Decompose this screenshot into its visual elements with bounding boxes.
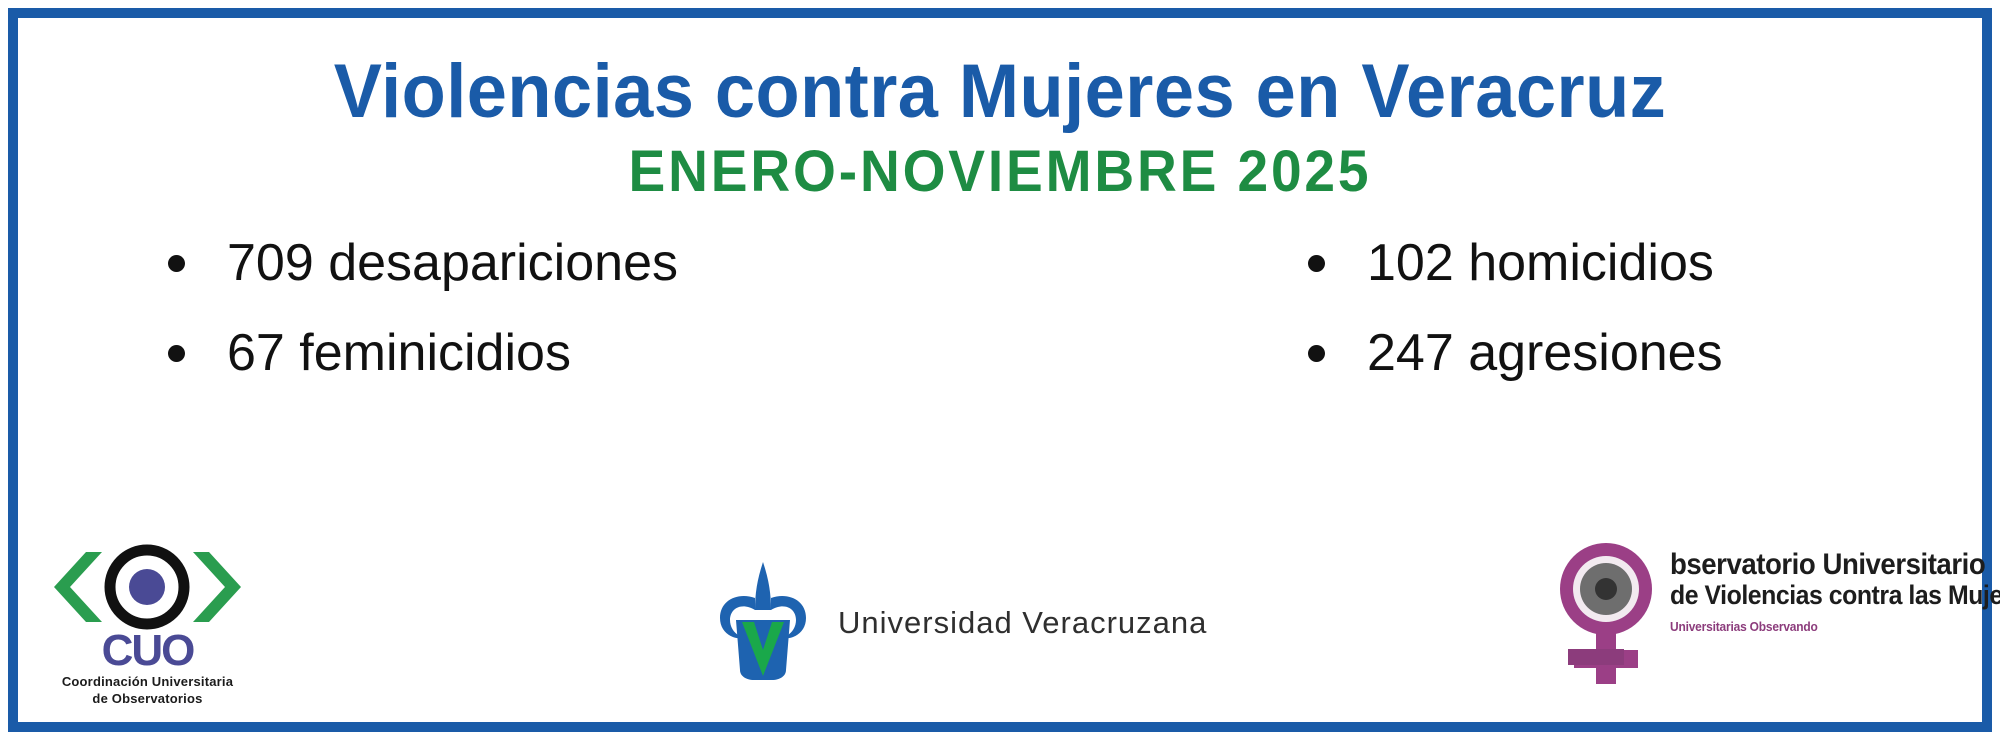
infographic-poster: Violencias contra Mujeres en Veracruz EN… (0, 0, 2000, 740)
title-block: Violencias contra Mujeres en Veracruz EN… (18, 52, 1982, 204)
bullet-point-icon (168, 255, 185, 272)
bullet-point-icon (168, 345, 185, 362)
poster-border-frame: Violencias contra Mujeres en Veracruz EN… (8, 8, 1992, 732)
list-item: 102 homicidios (1308, 218, 2000, 308)
logo-observatorio-universitario: bservatorio Universitario de Violencias … (1546, 537, 2000, 692)
stat-desapariciones: 709 desapariciones (227, 233, 678, 293)
bullet-point-icon (1308, 345, 1325, 362)
stat-feminicidios: 67 feminicidios (227, 323, 571, 383)
logo-universidad-veracruzana: Universidad Veracruzana (708, 558, 1207, 688)
cuo-caption-line-1: Coordinación Universitaria (40, 673, 255, 691)
list-item: 67 feminicidios (168, 308, 1052, 398)
uv-fleur-de-lis-icon (708, 558, 818, 688)
statistics-section: 709 desapariciones 67 feminicidios 102 h… (18, 218, 1982, 418)
logo-strip: CUO Coordinación Universitaria de Observ… (18, 531, 1982, 716)
cuo-acronym: CUO (40, 631, 255, 671)
page-subtitle-period: ENERO-NOVIEMBRE 2025 (67, 140, 1933, 204)
observatorio-line-1: bservatorio Universitario (1670, 549, 2000, 581)
observatorio-line-2: de Violencias contra las Mujeres (1670, 581, 2000, 610)
logo-cuo: CUO Coordinación Universitaria de Observ… (40, 540, 255, 708)
stat-agresiones: 247 agresiones (1367, 323, 1723, 383)
uv-wordmark: Universidad Veracruzana (838, 605, 1207, 641)
bullet-point-icon (1308, 255, 1325, 272)
cuo-eye-icon (40, 540, 255, 635)
stats-column-left: 709 desapariciones 67 feminicidios (168, 218, 1052, 398)
venus-symbol-icon (1546, 537, 1666, 692)
list-item: 709 desapariciones (168, 218, 1052, 308)
stat-homicidios: 102 homicidios (1367, 233, 1714, 293)
stats-column-right: 102 homicidios 247 agresiones (1308, 218, 2000, 398)
page-title: Violencias contra Mujeres en Veracruz (67, 52, 1933, 132)
observatorio-tagline: Universitarias Observando (1670, 619, 2000, 634)
list-item: 247 agresiones (1308, 308, 2000, 398)
cuo-caption-line-2: de Observatorios (40, 690, 255, 708)
